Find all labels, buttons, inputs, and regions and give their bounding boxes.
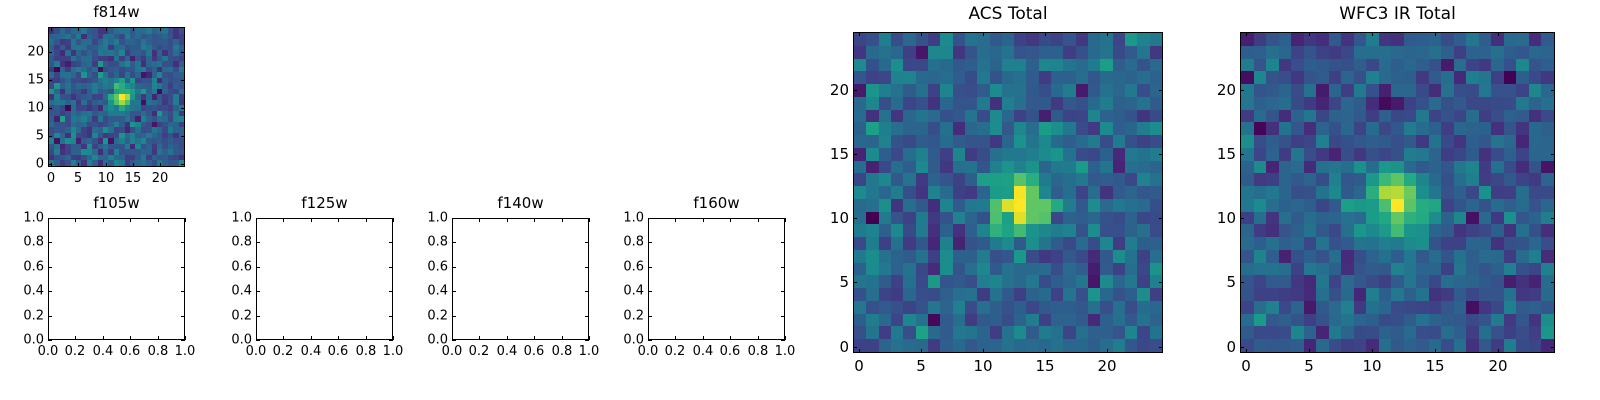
- yticklabel-wfc3-ir-total-2: 10: [1194, 209, 1236, 227]
- xticklabel-wfc3-ir-total-3: 15: [1425, 357, 1444, 375]
- xticklabel-wfc3-ir-total-1: 5: [1304, 357, 1314, 375]
- yticklabel-wfc3-ir-total-3: 15: [1194, 145, 1236, 163]
- panel-title-wfc3-ir-total: WFC3 IR Total: [1240, 4, 1555, 24]
- heatmap-wfc3-ir-total: [1241, 33, 1554, 352]
- xtick-wfc3-ir-total-1: [1309, 349, 1310, 353]
- ytick-wfc3-ir-total-0: [1240, 347, 1244, 348]
- xtick-top-wfc3-ir-total: [1498, 32, 1499, 36]
- axes-wfc3-ir-total[interactable]: [1240, 32, 1555, 353]
- xtick-top-wfc3-ir-total: [1372, 32, 1373, 36]
- xtick-wfc3-ir-total-0: [1246, 349, 1247, 353]
- yticklabel-wfc3-ir-total-1: 5: [1194, 273, 1236, 291]
- panel-wfc3-ir-total: WFC3 IR Total 0510152005101520: [0, 0, 1600, 400]
- xtick-top-wfc3-ir-total: [1435, 32, 1436, 36]
- xticklabel-wfc3-ir-total-0: 0: [1241, 357, 1251, 375]
- ytick-wfc3-ir-total-2: [1240, 218, 1244, 219]
- ytick-wfc3-ir-total-3: [1240, 154, 1244, 155]
- ytick-right-wfc3-ir-total: [1551, 282, 1555, 283]
- xticklabel-wfc3-ir-total-2: 10: [1362, 357, 1381, 375]
- figure-canvas: f814w 0510152005101520 f105w 0.00.20.40.…: [0, 0, 1600, 400]
- xtick-wfc3-ir-total-4: [1498, 349, 1499, 353]
- ytick-right-wfc3-ir-total: [1551, 90, 1555, 91]
- xtick-top-wfc3-ir-total: [1309, 32, 1310, 36]
- ytick-right-wfc3-ir-total: [1551, 218, 1555, 219]
- ytick-right-wfc3-ir-total: [1551, 347, 1555, 348]
- ytick-right-wfc3-ir-total: [1551, 154, 1555, 155]
- ytick-wfc3-ir-total-4: [1240, 90, 1244, 91]
- xtick-wfc3-ir-total-2: [1372, 349, 1373, 353]
- ytick-wfc3-ir-total-1: [1240, 282, 1244, 283]
- xtick-top-wfc3-ir-total: [1246, 32, 1247, 36]
- xtick-wfc3-ir-total-3: [1435, 349, 1436, 353]
- xticklabel-wfc3-ir-total-4: 20: [1488, 357, 1507, 375]
- yticklabel-wfc3-ir-total-4: 20: [1194, 81, 1236, 99]
- yticklabel-wfc3-ir-total-0: 0: [1194, 338, 1236, 356]
